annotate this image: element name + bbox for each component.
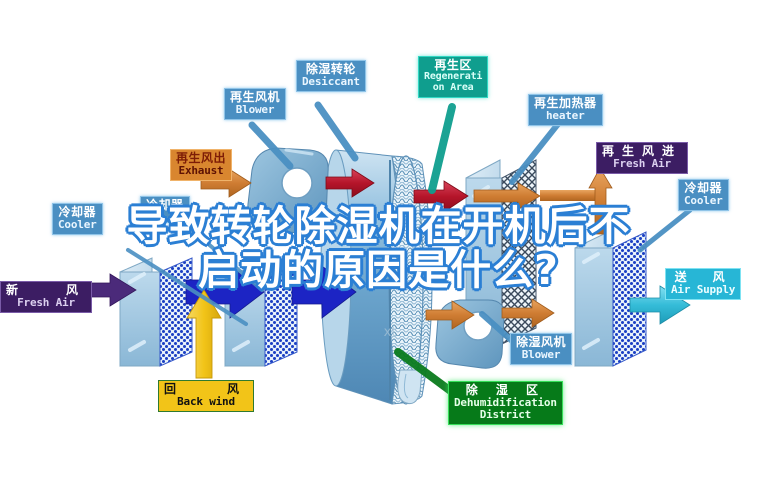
label-regeneration-area[interactable]: 再生区 Regenerati on Area [418,56,488,98]
label-regen-blower-en: Blower [230,104,280,116]
label-desiccant-cn: 除湿转轮 [302,63,360,76]
label-air-supply-en: Air Supply [671,284,735,296]
cooler-left-1-unit [120,258,192,366]
label-fresh-air-cn: 新 风 [6,284,86,297]
label-cooler-right-en: Cooler [684,195,723,207]
label-dehumidification-district[interactable]: 除 湿 区 Dehumidification District [448,381,563,425]
label-regeneration-exhaust[interactable]: 再生风出 Exhaust [170,149,232,181]
label-regeneration-blower[interactable]: 再生风机 Blower [224,88,286,120]
label-cooler-left-2[interactable]: 冷却器 [140,196,190,223]
label-cooler-left1-en: Cooler [58,219,97,231]
label-air-supply-cn: 送 风 [671,271,735,284]
svg-text:xt: xt [384,325,397,340]
label-regeneration-heater[interactable]: 再生加热器 heater [528,94,603,126]
label-dehum-blower-cn: 除湿风机 [516,336,566,349]
label-cooler-left2-cn: 冷却器 [146,199,184,212]
label-regen-fresh-en: Fresh Air [602,158,682,170]
label-exhaust-cn: 再生风出 [176,152,226,165]
label-dehumidification-blower[interactable]: 除湿风机 Blower [510,333,572,365]
label-dehum-district-en2: District [454,409,557,421]
label-cooler-right-cn: 冷却器 [684,182,723,195]
label-dehum-district-cn: 除 湿 区 [454,384,557,397]
label-back-wind-cn: 回 风 [164,383,248,396]
dehumidifier-diagram: xt [0,0,757,488]
label-back-wind[interactable]: 回 风 Back wind [158,380,254,412]
label-desiccant-en: Desiccant [302,76,360,88]
label-regen-blower-cn: 再生风机 [230,91,280,104]
label-exhaust-en: Exhaust [176,165,226,177]
label-desiccant[interactable]: 除湿转轮 Desiccant [296,60,366,92]
label-fresh-air-en: Fresh Air [6,297,86,309]
label-cooler-left-1[interactable]: 冷却器 Cooler [52,203,103,235]
label-heater-cn: 再生加热器 [534,97,597,110]
label-dehum-blower-en: Blower [516,349,566,361]
label-regeneration-fresh-air[interactable]: 再生风进 Fresh Air [596,142,688,174]
label-back-wind-en: Back wind [164,396,248,408]
label-heater-en: heater [534,110,597,122]
label-regen-area-cn: 再生区 [424,59,482,72]
label-air-supply[interactable]: 送 风 Air Supply [665,268,741,300]
label-cooler-left1-cn: 冷却器 [58,206,97,219]
diagram-illustration: xt [0,0,757,488]
label-fresh-air-inlet[interactable]: 新 风 Fresh Air [0,281,92,313]
label-regen-fresh-cn: 再生风进 [602,145,682,158]
label-cooler-right[interactable]: 冷却器 Cooler [678,179,729,211]
label-regen-area-en2: on Area [424,83,482,94]
